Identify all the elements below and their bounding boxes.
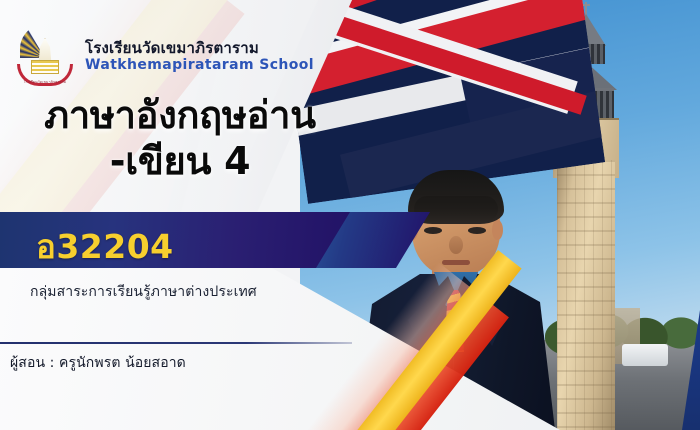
emblem-arc-text: โรงเรียนวัดเขมาภิรตาราม	[20, 80, 70, 85]
school-name-english: Watkhemapirataram School	[85, 57, 314, 74]
portrait-ear-right	[492, 220, 503, 240]
portrait-mouth	[442, 260, 470, 265]
course-title: ภาษาอังกฤษอ่าน -เขียน 4	[0, 96, 360, 182]
portrait-eye-left	[424, 227, 442, 234]
school-emblem-icon: โรงเรียนวัดเขมาภิรตาราม	[14, 22, 76, 92]
course-title-line2: -เขียน 4	[0, 142, 360, 182]
school-name-block: โรงเรียนวัดเขมาภิรตาราม Watkhemapiratara…	[85, 40, 314, 74]
school-header: โรงเรียนวัดเขมาภิรตาราม โรงเรียนวัดเขมาภ…	[14, 22, 314, 92]
instructor-label: ผู้สอน : ครูนักพรต น้อยสอาด	[10, 352, 330, 374]
portrait-eye-right	[468, 227, 486, 234]
portrait-nose	[449, 236, 463, 254]
bus	[622, 344, 668, 366]
tower-shaft	[557, 160, 615, 430]
section-divider	[0, 342, 352, 344]
school-name-thai: โรงเรียนวัดเขมาภิรตาราม	[85, 40, 314, 57]
course-code: อ32204	[36, 220, 336, 273]
course-title-line1: ภาษาอังกฤษอ่าน	[44, 93, 316, 137]
course-cover-poster: โรงเรียนวัดเขมาภิรตาราม โรงเรียนวัดเขมาภ…	[0, 0, 700, 430]
subject-group-label: กลุ่มสาระการเรียนรู้ภาษาต่างประเทศ	[30, 281, 360, 303]
